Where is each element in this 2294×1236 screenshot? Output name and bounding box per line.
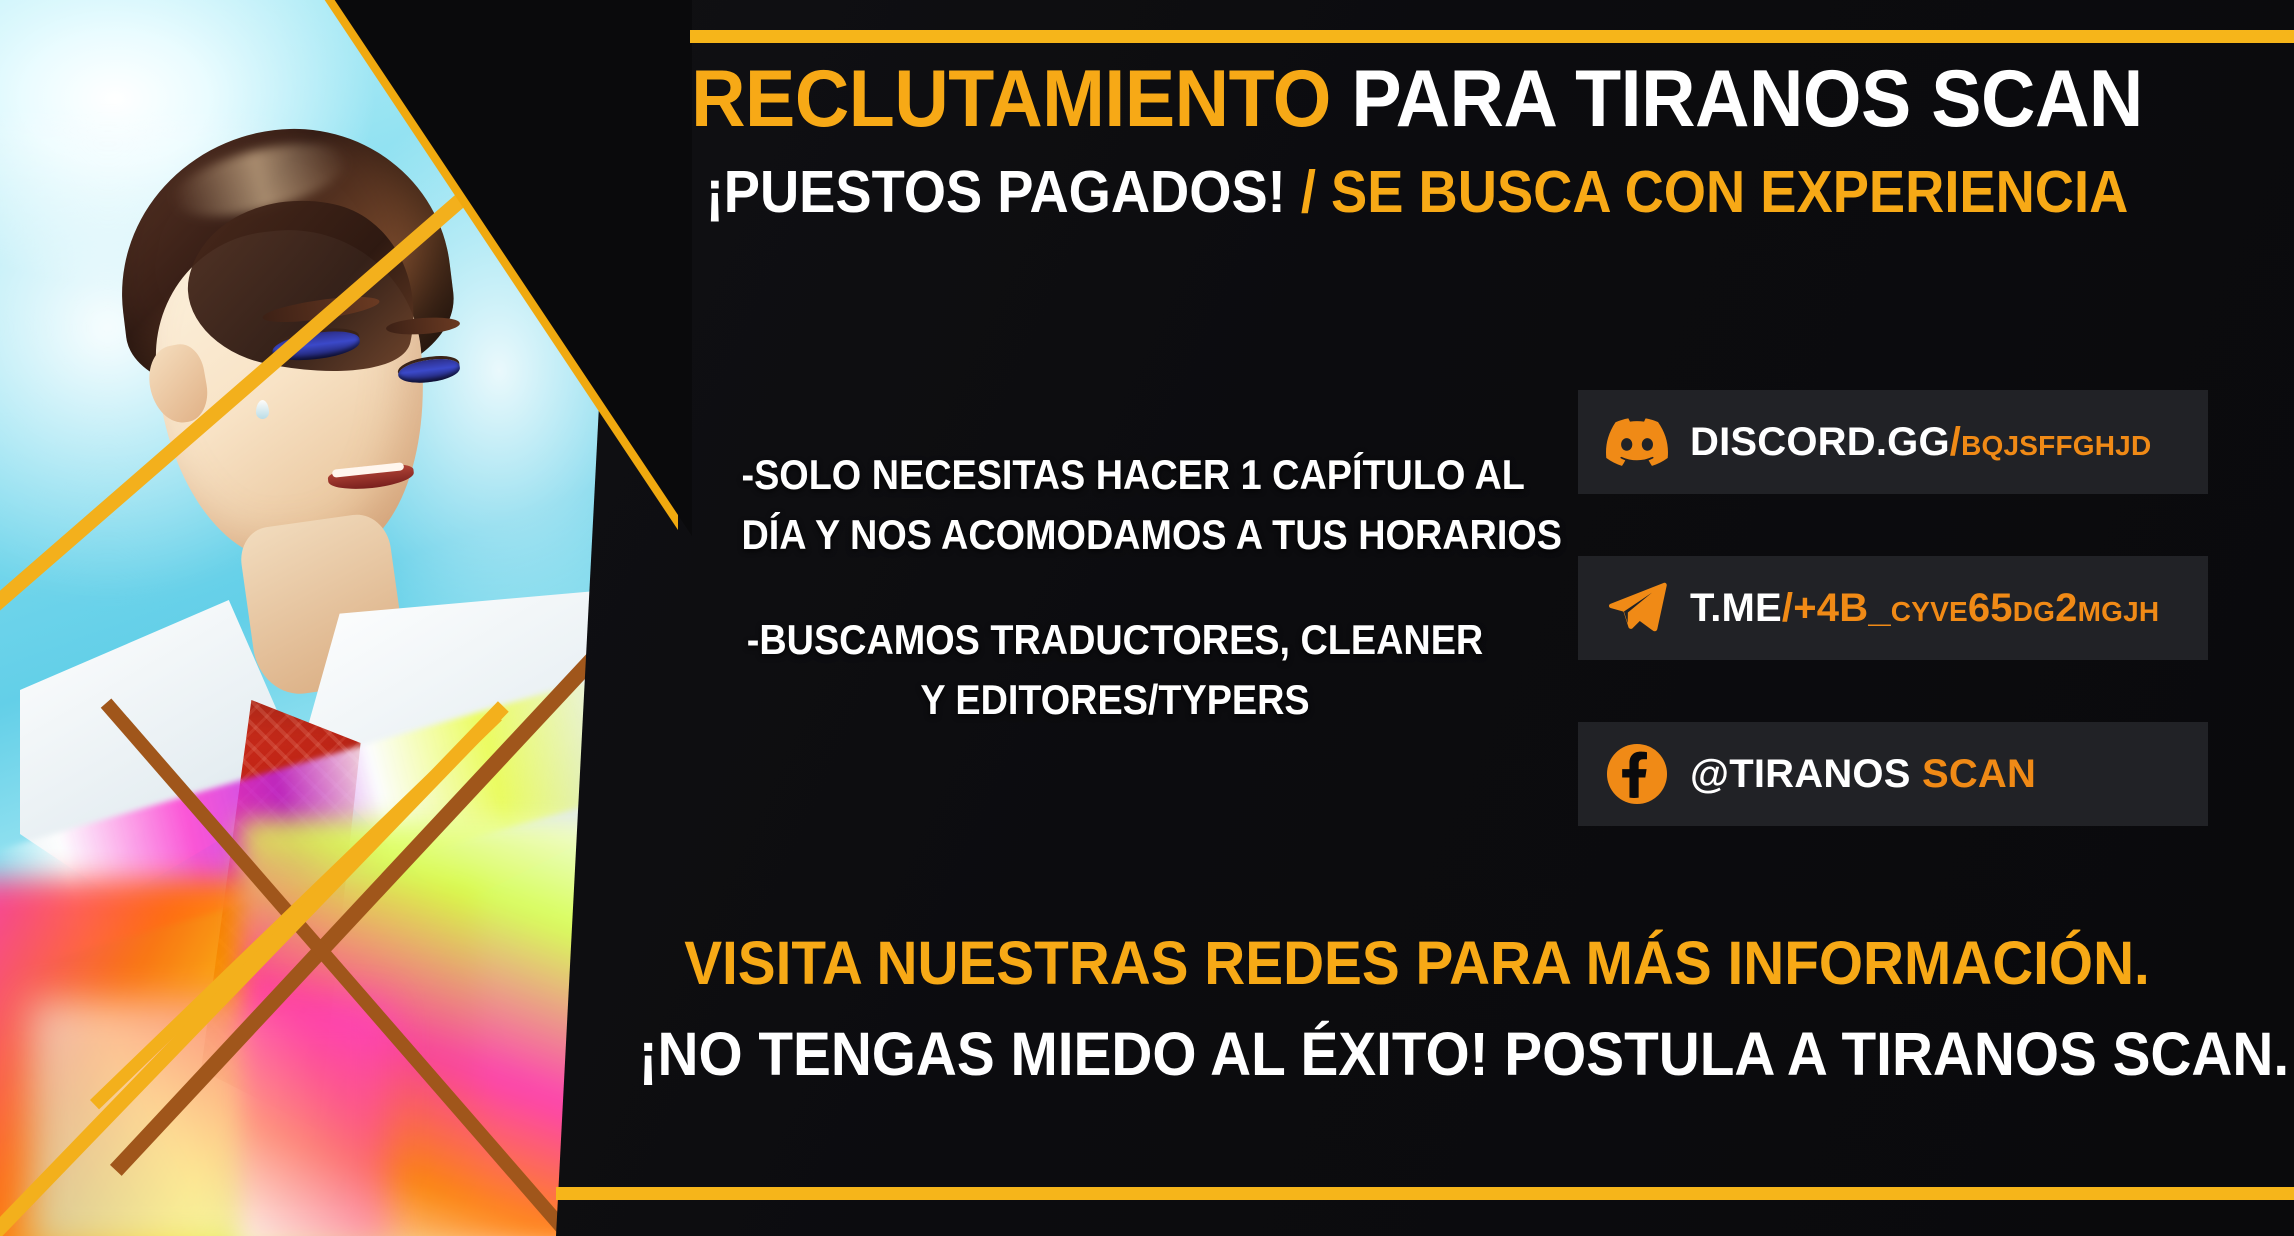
social-card-facebook-text: @TIRANOS SCAN <box>1690 752 2036 797</box>
cta-line-apply: ¡NO TENGAS MIEDO AL ÉXITO! POSTULA A TIR… <box>639 1016 2196 1093</box>
social-card-telegram[interactable]: T.ME/+4B_CyVe65DG2MGJh <box>1578 556 2208 660</box>
facebook-separator <box>1911 752 1922 796</box>
requirement-line: DÍA Y NOS ACOMODAMOS A TUS HORARIOS <box>742 505 1489 565</box>
subtitle-experience: SE BUSCA CON EXPERIENCIA <box>1331 159 2128 225</box>
requirement-line: -BUSCAMOS TRADUCTORES, CLEANER <box>742 610 1489 670</box>
requirement-item: -SOLO NECESITAS HACER 1 CAPÍTULO AL DÍA … <box>742 445 1489 564</box>
subtitle-paid-positions: ¡PUESTOS PAGADOS! <box>706 159 1286 225</box>
artwork-prism-c <box>30 1000 390 1236</box>
bottom-gold-rule <box>556 1187 2294 1200</box>
requirements-list: -SOLO NECESITAS HACER 1 CAPÍTULO AL DÍA … <box>742 445 1489 730</box>
social-card-discord-text: DISCORD.GG/BQJsFFgHJd <box>1690 420 2151 465</box>
top-gold-rule <box>690 30 2294 43</box>
call-to-action: VISITA NUESTRAS REDES PARA MÁS INFORMACI… <box>639 925 2196 1093</box>
subtitle-separator: / <box>1301 159 1316 225</box>
telegram-separator: /+4B_ <box>1782 586 1891 630</box>
discord-icon <box>1606 411 1668 473</box>
facebook-handle-accent: SCAN <box>1922 752 2036 796</box>
cta-line-visit: VISITA NUESTRAS REDES PARA MÁS INFORMACI… <box>639 925 2196 1002</box>
page-title: RECLUTAMIENTO PARA TIRANOS SCAN <box>639 58 2196 141</box>
character-sweat-drop <box>256 400 269 419</box>
telegram-invite-code: CyVe65DG2MGJh <box>1891 586 2159 630</box>
telegram-icon <box>1606 577 1668 639</box>
social-card-telegram-text: T.ME/+4B_CyVe65DG2MGJh <box>1690 586 2159 631</box>
recruitment-banner: RECLUTAMIENTO PARA TIRANOS SCAN ¡PUESTOS… <box>0 0 2294 1236</box>
social-card-facebook[interactable]: @TIRANOS SCAN <box>1578 722 2208 826</box>
telegram-domain-label: T.ME <box>1690 586 1782 630</box>
facebook-handle-label: @TIRANOS <box>1690 752 1911 796</box>
discord-separator: / <box>1950 420 1961 464</box>
requirement-line: -SOLO NECESITAS HACER 1 CAPÍTULO AL <box>742 445 1489 505</box>
page-subtitle: ¡PUESTOS PAGADOS! / SE BUSCA CON EXPERIE… <box>647 162 2187 222</box>
discord-invite-code: BQJsFFgHJd <box>1961 420 2151 464</box>
requirement-item: -BUSCAMOS TRADUCTORES, CLEANER Y EDITORE… <box>742 610 1489 729</box>
facebook-icon <box>1606 743 1668 805</box>
requirement-line: Y EDITORES/TYPERS <box>742 670 1489 730</box>
headline-gold-text: RECLUTAMIENTO <box>691 54 1331 144</box>
headline-white-text: PARA TIRANOS SCAN <box>1351 54 2142 144</box>
social-card-discord[interactable]: DISCORD.GG/BQJsFFgHJd <box>1578 390 2208 494</box>
discord-domain-label: DISCORD.GG <box>1690 420 1950 464</box>
social-links-group: DISCORD.GG/BQJsFFgHJd T.ME/+4B_CyVe65DG2… <box>1578 390 2208 826</box>
